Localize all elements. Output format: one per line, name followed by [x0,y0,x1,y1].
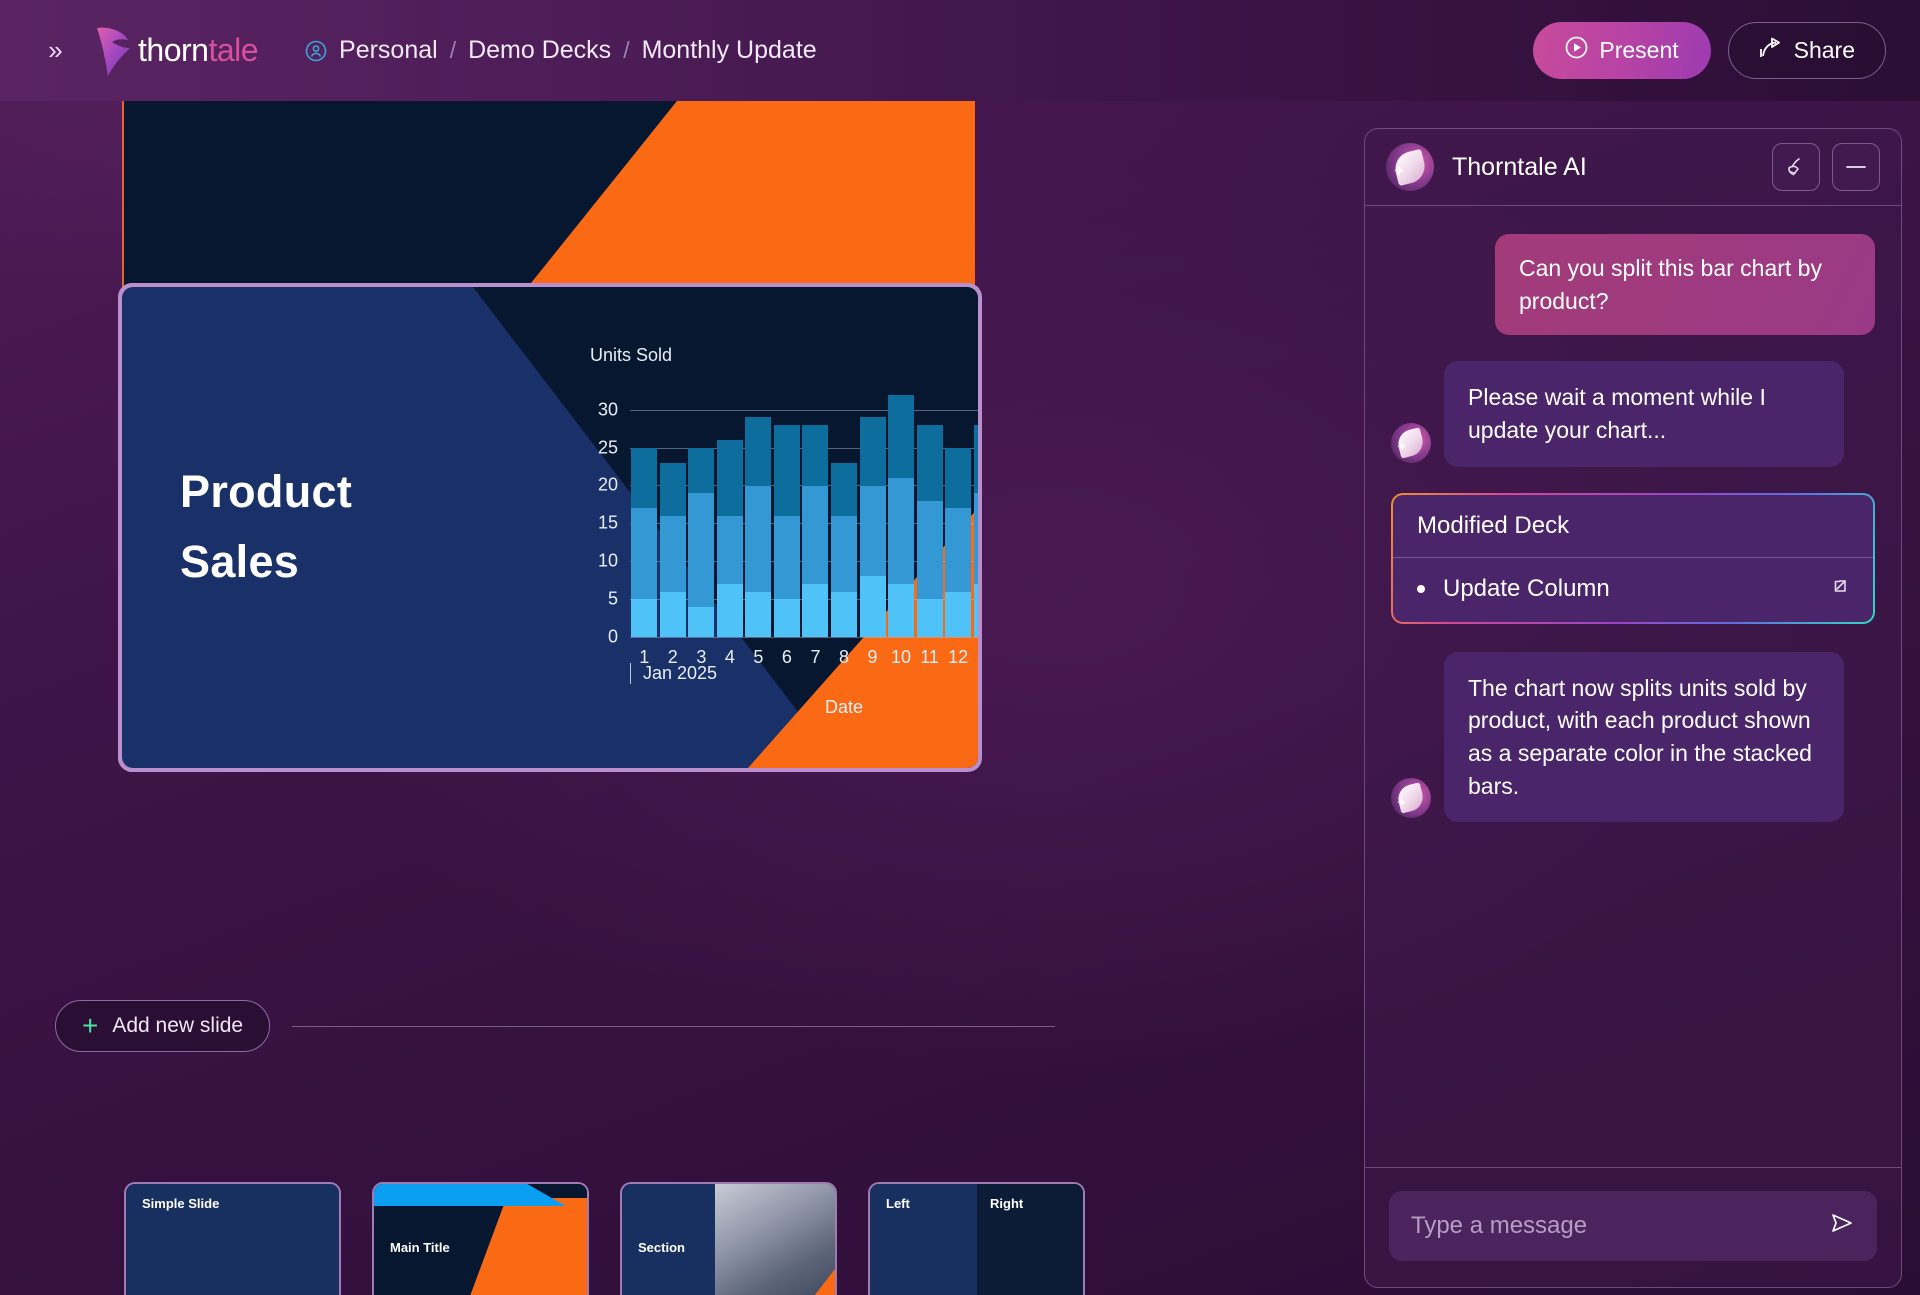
top-bar: » thorntale Personal / Demo Decks / [0,0,1920,101]
chart-bar-segment [802,486,828,584]
chart-x-axis-label: Date [630,697,978,718]
sidebar-collapse-icon[interactable]: » [30,31,70,71]
modified-deck-card[interactable]: Modified Deck Update Column [1391,493,1875,624]
chart-bar-segment [745,486,771,592]
share-arrow-icon [1759,37,1783,65]
chart-y-tick: 20 [598,475,618,496]
ai-chat-messages[interactable]: Can you split this bar chart by product?… [1365,206,1901,1167]
ai-panel-title: Thorntale AI [1452,153,1587,182]
ai-panel-header: ✦ Thorntale AI [1365,129,1901,206]
chart-axis-note: Jan 2025 [630,663,717,684]
chart-bar-column[interactable]: 6 [773,387,802,637]
breadcrumb-item-monthly-update[interactable]: Monthly Update [642,36,817,65]
chart-x-tick: 5 [753,647,763,668]
chat-message-user: Can you split this bar chart by product? [1391,234,1875,335]
chart-bar-column[interactable]: 10 [887,387,916,637]
chart-y-tick: 5 [608,589,618,610]
chart-bar-segment [717,516,743,584]
template-card-section[interactable]: Section Section [620,1182,837,1295]
chart-bar-segment [745,417,771,485]
present-button[interactable]: Present [1533,22,1710,79]
bar-chart[interactable]: Units Sold 05101520253012345678910111213… [462,345,962,765]
chart-bar-segment [831,592,857,637]
chart-y-tick: 25 [598,437,618,458]
chart-y-tick: 15 [598,513,618,534]
template-card-two-column[interactable]: Left Right Two Column [868,1182,1085,1295]
chart-bar-segment [917,501,943,599]
chart-bar-segment [631,448,657,509]
template-preview: Main Title [374,1184,587,1295]
chart-bar-segment [974,425,978,493]
share-button[interactable]: Share [1728,22,1886,79]
chart-y-tick: 10 [598,551,618,572]
chat-bubble-user: Can you split this bar chart by product? [1495,234,1875,335]
chart-x-tick: 10 [891,647,911,668]
chart-gridline: 0 [630,637,978,638]
user-circle-icon [305,40,327,62]
chat-message-bot: ✦ The chart now splits units sold by pro… [1391,652,1875,823]
template-preview: Left Right [870,1184,1083,1295]
chart-bar-column[interactable]: 5 [744,387,773,637]
chart-bar-segment [660,592,686,637]
template-preview-label: Simple Slide [142,1196,219,1211]
template-card-plain[interactable]: Simple Slide Plain [124,1182,341,1295]
add-new-slide-button[interactable]: + Add new slide [55,1000,270,1052]
chart-y-tick: 30 [598,399,618,420]
ai-chat-composer [1365,1167,1901,1287]
slide-title-line1: Product [180,457,352,527]
slide-content: Product Sales Units Sold 051015202530123… [122,287,978,768]
template-preview-label: Main Title [390,1240,450,1255]
chart-bar-segment [660,516,686,592]
chart-bar-segment [945,592,971,637]
thorntale-ai-avatar-icon: ✦ [1386,143,1434,191]
chart-bar-segment [860,576,886,637]
chart-bar-segment [802,584,828,637]
chart-y-axis-label: Units Sold [590,345,672,366]
share-button-label: Share [1794,37,1855,64]
template-preview: Section [622,1184,835,1295]
chart-bar-segment [745,592,771,637]
chart-bar-segment [945,508,971,591]
chart-bar-segment [888,584,914,637]
chart-bar-segment [631,599,657,637]
chart-bar-segment [688,448,714,493]
chart-bar-segment [660,463,686,516]
chart-bar-column[interactable]: 3 [687,387,716,637]
breadcrumb-separator: / [450,37,456,64]
thorntale-ai-avatar-icon: ✦ [1391,778,1431,818]
divider [292,1026,1055,1027]
broom-icon[interactable] [1772,143,1820,191]
chart-bar-segment [831,463,857,516]
chart-x-tick: 7 [810,647,820,668]
breadcrumb: Personal / Demo Decks / Monthly Update [305,36,817,65]
chart-x-tick: 11 [920,647,939,668]
chart-bar-column[interactable]: 7 [801,387,830,637]
chat-bubble-bot: Please wait a moment while I update your… [1444,361,1844,466]
chart-bar-column[interactable]: 8 [830,387,859,637]
chart-bar-segment [774,425,800,516]
chart-bar-segment [888,478,914,584]
thorntale-ai-avatar-icon: ✦ [1391,423,1431,463]
template-image [715,1184,835,1295]
bullet-icon [1417,585,1425,593]
chart-bar-segment [860,486,886,577]
slide-selected[interactable]: Product Sales Units Sold 051015202530123… [118,283,982,772]
chart-x-tick: 12 [948,647,968,668]
present-button-label: Present [1599,37,1678,64]
modified-deck-item[interactable]: Update Column [1393,558,1873,622]
open-external-icon[interactable] [1830,575,1851,602]
chart-bar-segment [631,508,657,599]
template-preview-label: Section [638,1240,685,1255]
chart-bar-segment [974,493,978,584]
play-circle-icon [1565,36,1588,65]
chart-bar-column[interactable]: 11 [915,387,944,637]
template-preview: Simple Slide [126,1184,339,1295]
slide-accent-shape [455,101,975,313]
breadcrumb-item-personal[interactable]: Personal [339,36,438,65]
chart-bar-segment [717,584,743,637]
slide-thumbnail-previous[interactable] [122,101,975,313]
logo-text-thorn: thorn [138,32,208,68]
add-slide-row: + Add new slide [55,1000,1055,1052]
chart-y-tick: 0 [608,627,618,648]
chart-x-tick: 6 [782,647,792,668]
chart-bar-segment [917,599,943,637]
send-icon[interactable] [1817,1211,1855,1242]
slide-title[interactable]: Product Sales [180,457,352,597]
chart-bar-segment [717,440,743,516]
thorntale-bird-icon [94,24,134,78]
chart-bar-segment [945,448,971,509]
chart-bar-column[interactable]: 4 [716,387,745,637]
chart-bars: 123456789101112131415 [630,387,978,637]
breadcrumb-separator: / [623,37,629,64]
chart-bar-segment [688,607,714,637]
slide-canvas[interactable]: Product Sales Units Sold 051015202530123… [0,101,1345,1295]
top-bar-actions: Present Share [1533,22,1886,79]
chart-bar-segment [888,395,914,478]
chat-message-bot: ✦ Please wait a moment while I update yo… [1391,361,1875,466]
chart-bar-segment [831,516,857,592]
logo-text: thorntale [138,32,258,69]
chart-bar-segment [802,425,828,486]
chart-bar-column[interactable]: 1 [630,387,659,637]
logo-text-tale: tale [208,32,258,68]
chart-bar-column[interactable]: 13 [972,387,978,637]
minimize-icon[interactable] [1832,143,1880,191]
slide-title-line2: Sales [180,527,352,597]
chart-plot-area: 051015202530123456789101112131415 [630,387,978,637]
chart-bar-column[interactable]: 9 [858,387,887,637]
modified-deck-item-label: Update Column [1443,575,1610,603]
chat-bubble-bot: The chart now splits units sold by produ… [1444,652,1844,823]
chart-bar-segment [917,425,943,501]
chart-bar-column[interactable]: 12 [944,387,973,637]
chart-bar-segment [774,516,800,599]
slide-template-list: Simple Slide Plain Main Title [124,1182,1085,1295]
app-logo[interactable]: thorntale [94,24,258,78]
chart-x-tick: 13 [977,647,978,668]
chart-x-tick: 8 [839,647,849,668]
chart-x-tick: 9 [868,647,878,668]
chart-x-tick: 4 [725,647,735,668]
ai-assistant-panel: ✦ Thorntale AI Can you split this bar ch… [1364,128,1902,1288]
template-preview-label-left: Left [886,1196,910,1211]
chart-bar-segment [688,493,714,607]
modified-deck-title: Modified Deck [1393,495,1873,558]
message-input[interactable] [1411,1212,1817,1240]
chart-bar-segment [974,584,978,637]
chart-bar-segment [860,417,886,485]
template-card-title[interactable]: Main Title Title [372,1182,589,1295]
plus-icon: + [82,1012,98,1040]
chart-bar-column[interactable]: 2 [659,387,688,637]
template-preview-label-right: Right [990,1196,1023,1211]
chart-bar-segment [774,599,800,637]
add-new-slide-label: Add new slide [112,1014,243,1038]
breadcrumb-item-demo-decks[interactable]: Demo Decks [468,36,611,65]
